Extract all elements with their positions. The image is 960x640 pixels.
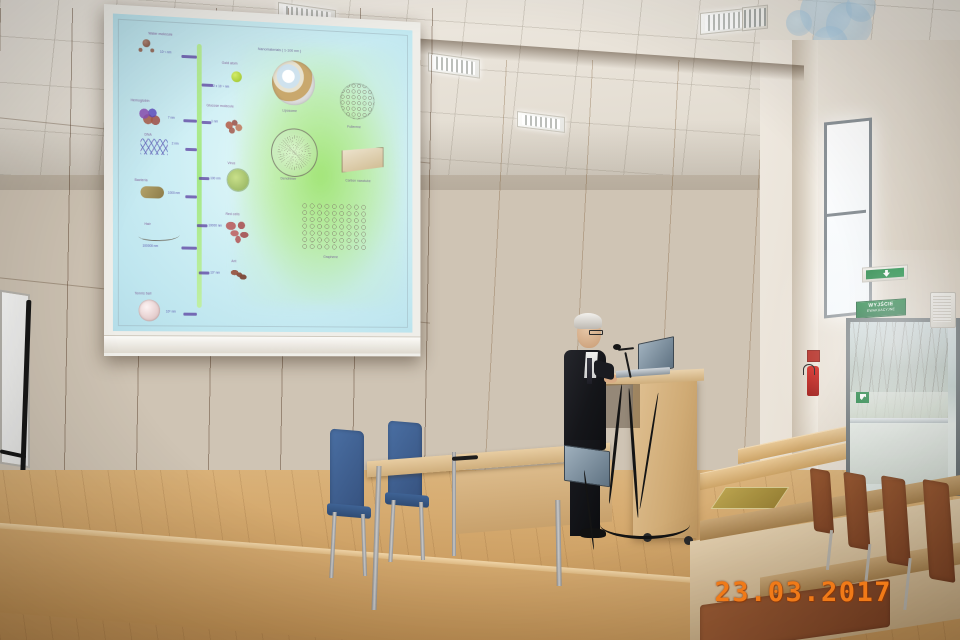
speaker-hair [574, 313, 602, 329]
slide-tick-redcells [197, 224, 208, 227]
slide-value-gold: 2 x 10⁻¹ nm [213, 84, 229, 89]
slide-border [118, 19, 408, 328]
door-push-bar[interactable] [850, 418, 948, 423]
slide-value-redcells: 10000 nm [208, 223, 222, 227]
slide-tick-hair [181, 246, 196, 249]
cable-floor-coil [600, 510, 690, 539]
slide-label-ant: Ant [231, 259, 236, 263]
graphene-icon [301, 202, 367, 250]
virus-icon [228, 169, 249, 191]
slide-label-fullerene: Fullerene [347, 125, 361, 129]
gold-atom-icon [231, 71, 241, 82]
microphone-capsule [613, 344, 621, 350]
door-lower-glass [850, 424, 948, 484]
table-leg-back-left [452, 452, 456, 556]
slide-value-water: 10⁻¹ nm [160, 50, 171, 55]
slide-tick-glucose [202, 121, 212, 124]
slide-value-ant: 10⁷ nm [210, 271, 220, 275]
water-molecule-icon-h2 [150, 48, 154, 52]
wall-speaker-grille [933, 296, 951, 322]
glucose-molecule-icon [223, 118, 246, 137]
tall-window [824, 117, 872, 318]
slide-label-liposome: Liposome [282, 109, 297, 113]
slide-label-hemoglobin: Hemoglobin [131, 98, 150, 103]
ant-icon [229, 267, 246, 281]
slide-value-glucose: 1 nm [211, 119, 218, 123]
red-cells-icon [224, 220, 253, 244]
slide-tick-tennisball [183, 313, 197, 316]
fullerene-icon [340, 82, 375, 120]
slide-tick-hemoglobin [183, 119, 197, 122]
laptop-table-screen[interactable] [564, 445, 610, 487]
slide-tick-virus [199, 177, 210, 180]
slide-label-hair: Hair [144, 222, 150, 226]
dna-icon [141, 138, 168, 155]
tennis-ball-icon [139, 299, 161, 321]
water-molecule-icon [142, 39, 150, 47]
screen-bottom-bar [104, 335, 420, 354]
dendrimer-icon [271, 128, 318, 178]
lens-flare-5 [786, 10, 812, 36]
hemoglobin-icon [137, 106, 162, 127]
slide-label-bacteria: Bacteria [135, 178, 148, 182]
slide-label-dendrimer: Dendrimer [280, 176, 296, 180]
exit-sign-above-door: WYJŚCIE EWAKUACYJNE [856, 298, 906, 318]
slide-label-tennisball: Tennis ball [135, 291, 152, 295]
speaker-tie [587, 358, 592, 384]
slide-label-redcells: Red cells [226, 212, 240, 216]
fire-extinguisher-hose [803, 364, 815, 375]
blue-chair-1-back [330, 429, 364, 510]
lecture-hall-photo: Nanomaterials ( 1-100 nm ) Water molecul… [0, 0, 960, 640]
slide-tick-dna [185, 148, 197, 151]
slide-label-dna: DNA [144, 133, 151, 137]
slide-label-virus: Virus [228, 161, 236, 165]
slide-value-bacteria: 1000 nm [168, 191, 180, 195]
camera-date-stamp: 23.03.2017 [714, 577, 892, 608]
slide-label-nanotube: Carbon nanotube [345, 179, 370, 184]
wall-corner-bevel [792, 40, 818, 480]
slide-tick-ant [199, 271, 210, 274]
ceiling-vent-1 [742, 5, 768, 32]
slide-value-dna: 2 nm [172, 141, 179, 145]
water-molecule-icon-h1 [139, 48, 143, 52]
projection-screen: Nanomaterials ( 1-100 nm ) Water molecul… [104, 4, 420, 356]
slide-value-hemoglobin: 7 nm [168, 116, 175, 120]
slide-label-graphene: Graphene [323, 255, 338, 259]
slide-value-hair: 100000 nm [142, 244, 158, 248]
screen-canvas: Nanomaterials ( 1-100 nm ) Water molecul… [113, 14, 412, 333]
slide-label-gold: Gold atom [222, 61, 238, 66]
bacteria-icon [141, 186, 164, 199]
slide-value-tennisball: 10⁸ nm [166, 310, 176, 314]
fire-extinguisher-sign [807, 350, 820, 362]
slide-tick-bacteria [185, 195, 197, 198]
speaker-glasses [589, 330, 603, 335]
slide-value-virus: 100 nm [210, 176, 220, 180]
slide-tick-gold [202, 83, 214, 86]
